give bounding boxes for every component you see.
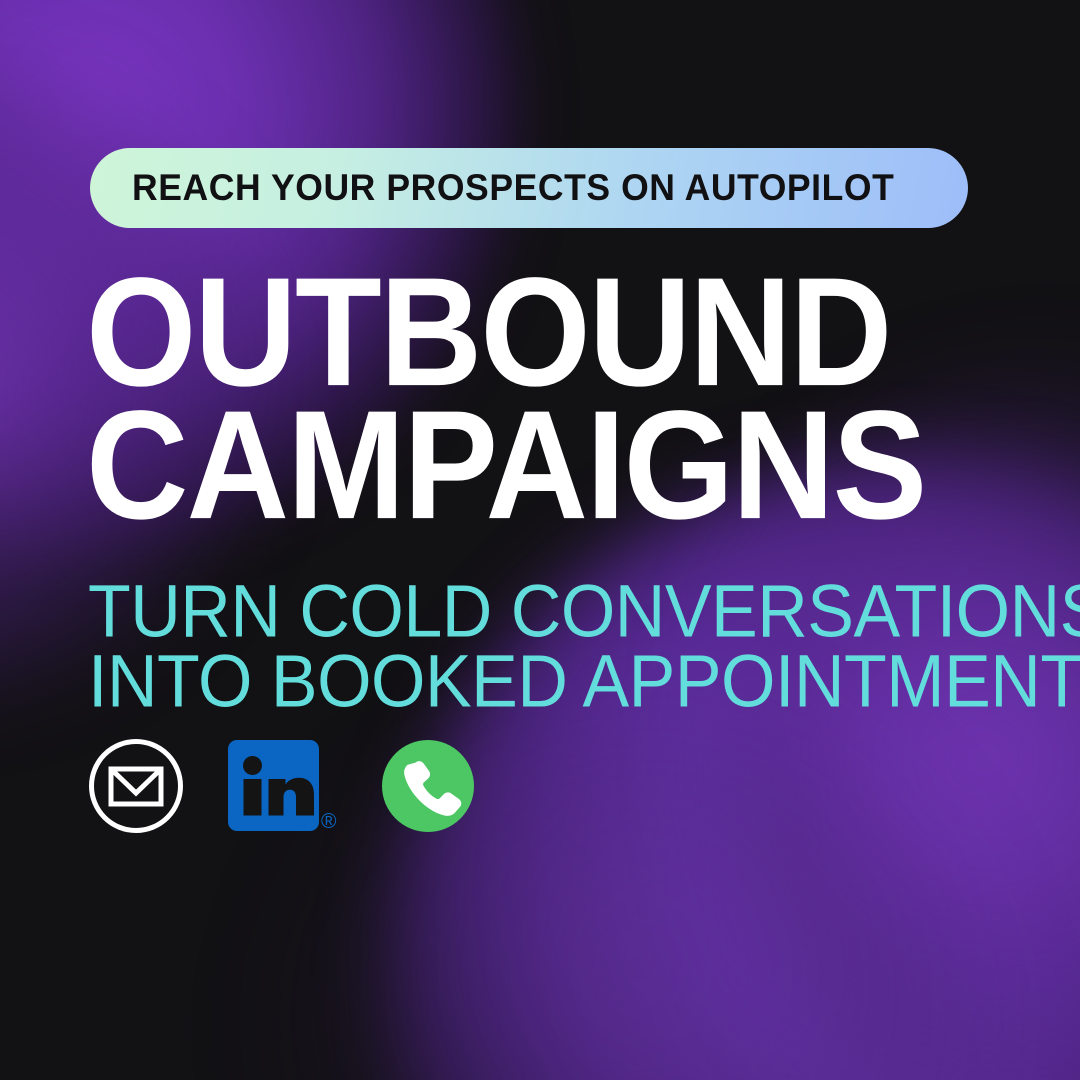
- linkedin-icon: [228, 740, 319, 831]
- eyebrow-badge-label: REACH YOUR PROSPECTS ON AUTOPILOT: [132, 167, 894, 209]
- phone-icon: [382, 740, 474, 832]
- linkedin-icon-wrap: ®: [228, 738, 338, 834]
- subtitle: TURN COLD CONVERSATIONS INTO BOOKED APPO…: [88, 574, 1048, 714]
- subtitle-line-1: TURN COLD CONVERSATIONS: [88, 574, 1048, 648]
- headline-line-2: CAMPAIGNS: [86, 395, 1026, 536]
- subtitle-line-2: INTO BOOKED APPOINTMENTS: [88, 644, 1048, 718]
- channel-icon-row: ®: [88, 738, 474, 834]
- email-icon: [88, 738, 184, 834]
- eyebrow-badge: REACH YOUR PROSPECTS ON AUTOPILOT: [90, 148, 968, 228]
- promo-graphic-canvas: REACH YOUR PROSPECTS ON AUTOPILOT OUTBOU…: [0, 0, 1080, 1080]
- graphic-content: REACH YOUR PROSPECTS ON AUTOPILOT OUTBOU…: [0, 0, 1080, 1080]
- page-title: OUTBOUND CAMPAIGNS: [86, 262, 1026, 524]
- linkedin-registered-trademark: ®: [321, 811, 336, 832]
